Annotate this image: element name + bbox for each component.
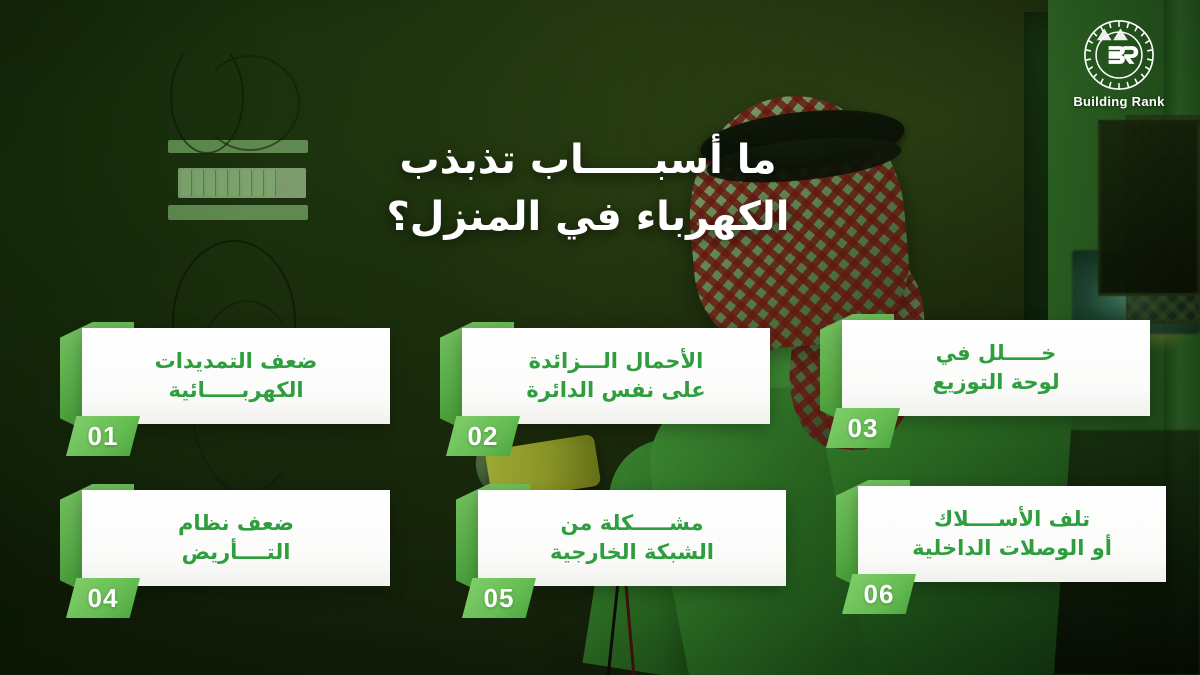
card-label-line-1: خـــــلل في	[936, 339, 1057, 368]
card-label-line-1: ضعف التمديدات	[155, 347, 318, 376]
card-label-line-2: الشبكة الخارجية	[550, 538, 714, 567]
card-label-line-1: مشـــــكلة من	[561, 509, 704, 538]
card-number-badge: 01	[66, 416, 140, 456]
card-label: خـــــلل في لوحة التوزيع	[842, 320, 1150, 416]
card-number-badge: 02	[446, 416, 520, 456]
card-label-line-2: التــــأريض	[182, 538, 291, 567]
card-label-line-1: ضعف نظام	[178, 509, 294, 538]
card-label-line-1: تلف الأســــلاك	[934, 505, 1090, 534]
card-number-badge: 06	[842, 574, 916, 614]
reason-card-02[interactable]: الأحمال الـــزائدة على نفس الدائرة 02	[462, 328, 770, 424]
reason-card-03[interactable]: خـــــلل في لوحة التوزيع 03	[842, 320, 1150, 416]
card-number-badge: 03	[826, 408, 900, 448]
card-label: مشـــــكلة من الشبكة الخارجية	[478, 490, 786, 586]
card-label: تلف الأســــلاك أو الوصلات الداخلية	[858, 486, 1166, 582]
card-label: الأحمال الـــزائدة على نفس الدائرة	[462, 328, 770, 424]
infographic-canvas: Building Rank ما أسبـــــاب تذبذب الكهرب…	[0, 0, 1200, 675]
card-number-badge: 05	[462, 578, 536, 618]
reason-card-01[interactable]: ضعف التمديدات الكهربـــــائية 01	[82, 328, 390, 424]
card-label: ضعف نظام التــــأريض	[82, 490, 390, 586]
card-label-line-2: لوحة التوزيع	[932, 368, 1059, 397]
card-label-line-2: على نفس الدائرة	[526, 376, 705, 405]
reason-card-grid: ضعف التمديدات الكهربـــــائية 01 الأحمال…	[0, 0, 1200, 675]
card-label-line-2: أو الوصلات الداخلية	[912, 534, 1112, 563]
card-label: ضعف التمديدات الكهربـــــائية	[82, 328, 390, 424]
card-number-badge: 04	[66, 578, 140, 618]
card-label-line-2: الكهربـــــائية	[168, 376, 303, 405]
reason-card-04[interactable]: ضعف نظام التــــأريض 04	[82, 490, 390, 586]
reason-card-06[interactable]: تلف الأســــلاك أو الوصلات الداخلية 06	[858, 486, 1166, 582]
card-label-line-1: الأحمال الـــزائدة	[529, 347, 704, 376]
reason-card-05[interactable]: مشـــــكلة من الشبكة الخارجية 05	[478, 490, 786, 586]
